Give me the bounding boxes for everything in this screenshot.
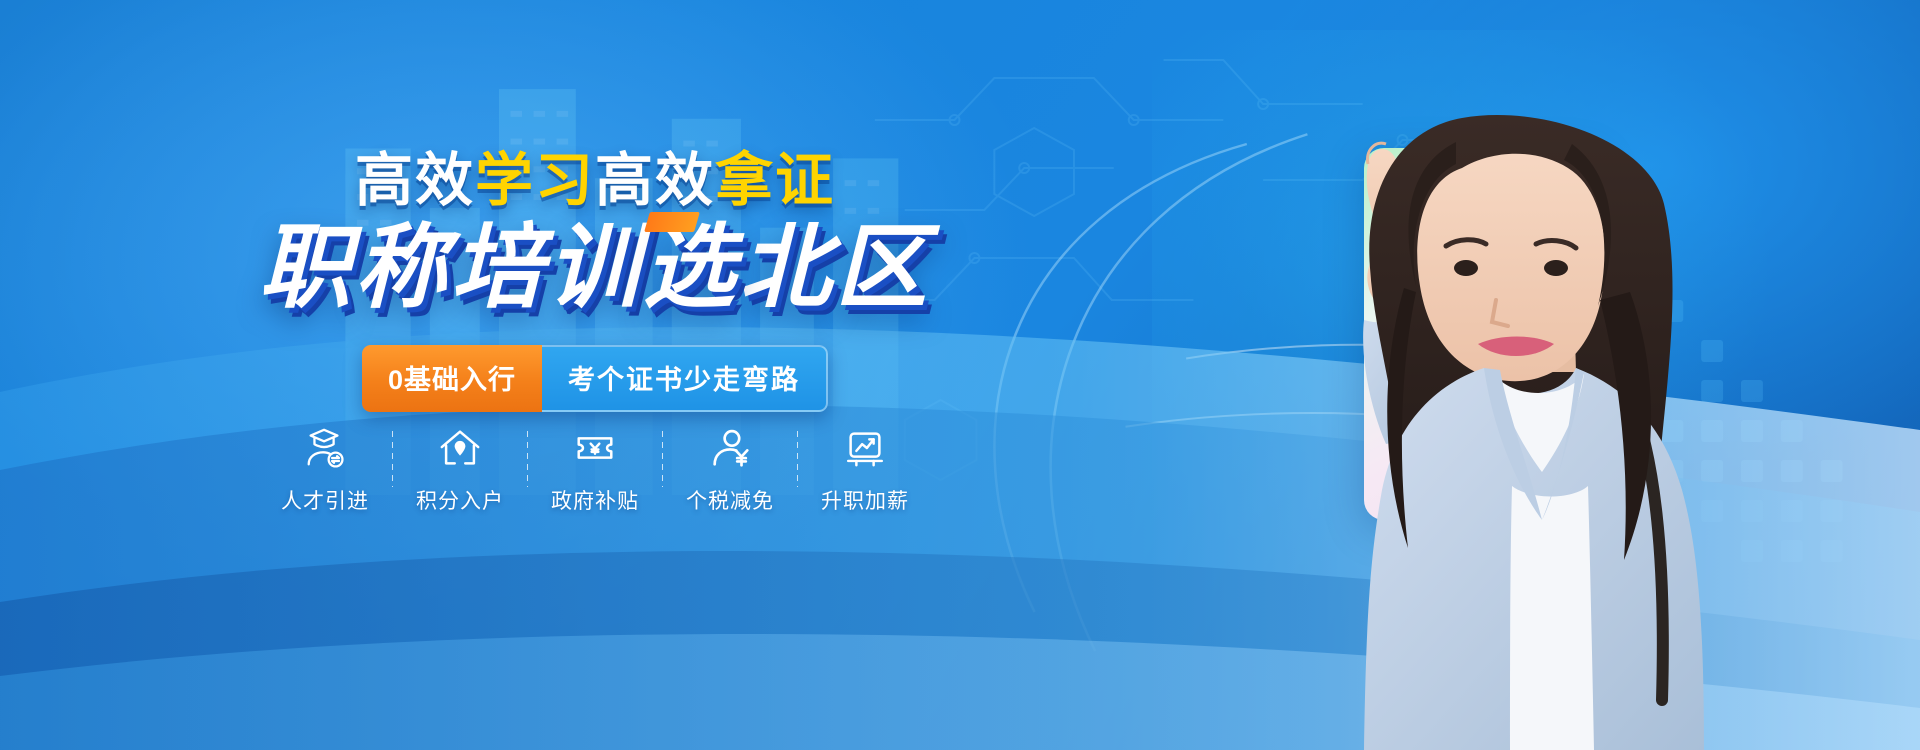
title-trail: 北区 (739, 217, 931, 319)
feature-item-tax[interactable]: 个税减免 (663, 425, 797, 515)
feature-item-talent[interactable]: 人才引进 (258, 425, 392, 515)
growth-chart-icon (842, 425, 888, 471)
house-location-icon (437, 425, 483, 471)
headline-part-4: 拿证 (715, 148, 835, 213)
banner-content: 高效学习高效拿证 职称培训选北区 0基础入行 考个证书少走弯路 人才引进 (0, 0, 1920, 750)
feature-label: 政府补贴 (551, 485, 639, 515)
banner-title: 职称培训选北区 (0, 218, 1190, 319)
banner-headline: 高效学习高效拿证 (0, 152, 1190, 210)
feature-item-residency[interactable]: 积分入户 (393, 425, 527, 515)
promo-banner: 高效学习高效拿证 职称培训选北区 0基础入行 考个证书少走弯路 人才引进 (0, 0, 1920, 750)
ticket-yuan-icon (572, 425, 618, 471)
title-accent-bar (644, 212, 700, 232)
headline-part-2: 学习 (475, 148, 595, 213)
feature-label: 积分入户 (416, 485, 504, 515)
feature-item-promotion[interactable]: 升职加薪 (798, 425, 932, 515)
graduate-person-icon (302, 425, 348, 471)
feature-label: 人才引进 (281, 485, 369, 515)
tagline-box: 0基础入行 考个证书少走弯路 (362, 345, 828, 412)
tagline-row: 0基础入行 考个证书少走弯路 (0, 345, 1190, 412)
tagline-text: 考个证书少走弯路 (542, 345, 828, 412)
feature-list: 人才引进 积分入户 政府补贴 (0, 425, 1190, 515)
person-yuan-icon (707, 425, 753, 471)
feature-item-subsidy[interactable]: 政府补贴 (528, 425, 662, 515)
title-accent: 选 (643, 217, 739, 319)
title-lead: 职称培训 (259, 217, 643, 319)
feature-label: 升职加薪 (821, 485, 909, 515)
title-accent-wrap: 选 (643, 218, 739, 319)
headline-part-3: 高效 (595, 148, 715, 213)
tagline-badge: 0基础入行 (362, 345, 542, 412)
headline-part-1: 高效 (355, 148, 475, 213)
feature-label: 个税减免 (686, 485, 774, 515)
